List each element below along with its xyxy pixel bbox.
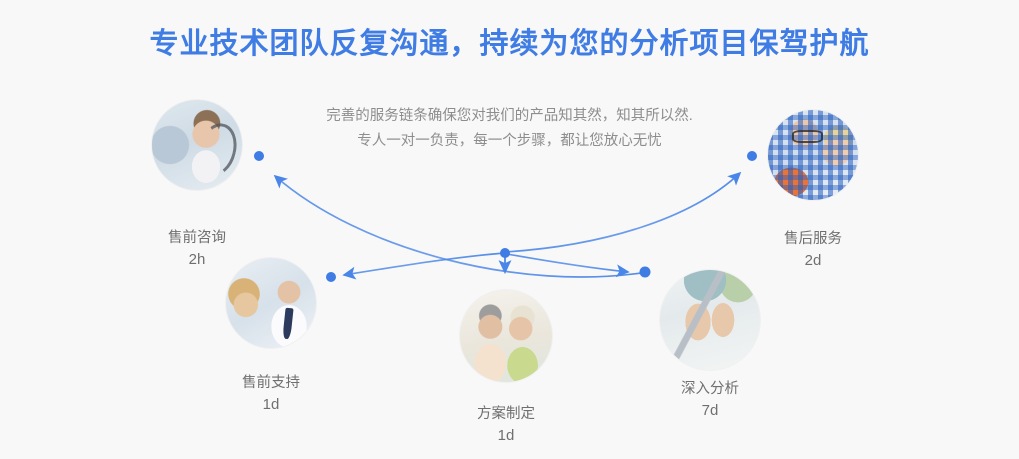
process-flow-canvas: 专业技术团队反复沟通，持续为您的分析项目保驾护航 完善的服务链条确保您对我们的产… [0,0,1019,459]
connector-analysis-to-aftersales [505,173,740,252]
consultants-photo [226,258,316,348]
connector-junction-to-analysis [507,254,628,272]
flow-node-aftersales-duration: 2d [738,250,888,271]
endpoint-dot-support [326,272,336,282]
flow-node-plan-caption: 方案制定 1d [431,404,581,446]
headset-agent-photo [152,100,242,190]
flow-node-plan-label: 方案制定 [477,406,535,422]
flow-node-analysis-duration: 7d [635,400,785,421]
endpoint-dot-analysis [640,267,651,278]
smiling-couple-photo [768,110,858,200]
flow-node-support-duration: 1d [196,394,346,415]
couple-discussing-photo [460,290,552,382]
flow-node-presales-label: 售前咨询 [168,230,226,246]
flow-node-analysis-label: 深入分析 [681,381,739,397]
flow-node-support-label: 售前支持 [242,375,300,391]
connector-junction-to-support [344,253,505,275]
flow-node-analysis-caption: 深入分析 7d [635,379,785,421]
blueprint-hands-photo [660,270,760,370]
connector-support-to-presales [275,176,648,277]
page-title: 专业技术团队反复沟通，持续为您的分析项目保驾护航 [0,24,1019,64]
junction-dot-center [500,248,510,258]
flow-node-aftersales-caption: 售后服务 2d [738,229,888,271]
flow-node-aftersales-label: 售后服务 [784,231,842,247]
flow-node-support-caption: 售前支持 1d [196,373,346,415]
flow-node-plan-duration: 1d [431,425,581,446]
